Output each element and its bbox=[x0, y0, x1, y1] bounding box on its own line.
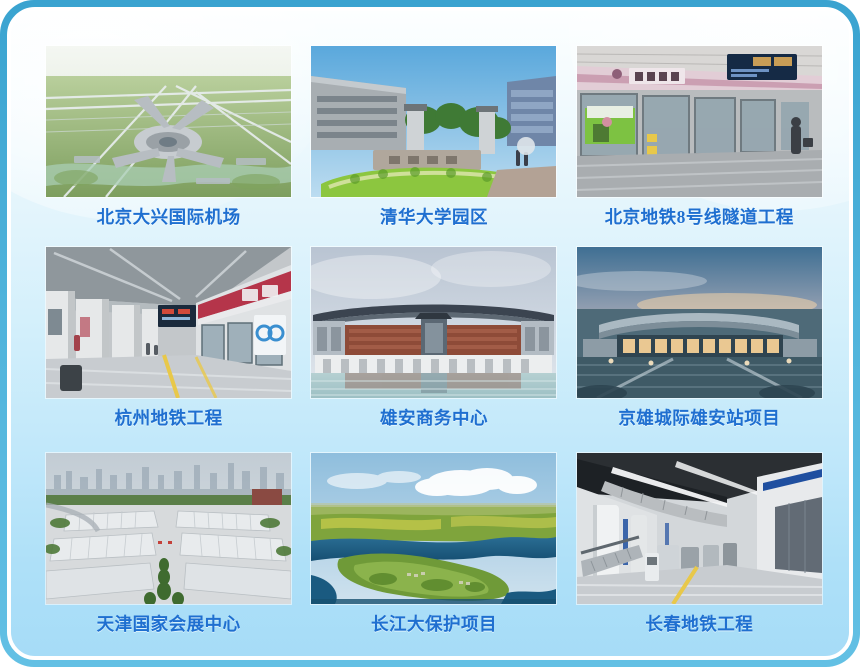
thumbnail-hangzhou-metro[interactable] bbox=[46, 247, 291, 398]
gallery-item-caption: 北京地铁8号线隧道工程 bbox=[605, 208, 794, 227]
gallery-item-tsinghua-campus[interactable]: 清华大学园区 bbox=[308, 32, 559, 238]
thumbnail-yangtze-protection[interactable] bbox=[311, 453, 556, 604]
gallery-item-daxing-airport[interactable]: 北京大兴国际机场 bbox=[43, 32, 294, 238]
gallery-item-changchun-metro[interactable]: 长春地铁工程 bbox=[574, 444, 825, 650]
gallery-item-caption: 北京大兴国际机场 bbox=[97, 208, 241, 227]
slide-frame: 北京大兴国际机场 bbox=[7, 7, 853, 660]
gallery-item-caption: 长江大保护项目 bbox=[371, 615, 497, 634]
gallery-item-caption: 长春地铁工程 bbox=[645, 615, 753, 634]
gallery-item-caption: 京雄城际雄安站项目 bbox=[618, 409, 780, 428]
thumbnail-tsinghua-campus[interactable] bbox=[311, 46, 556, 197]
gallery-item-hangzhou-metro[interactable]: 杭州地铁工程 bbox=[43, 238, 294, 444]
gallery-item-caption: 天津国家会展中心 bbox=[97, 615, 241, 634]
thumbnail-xiongan-business-center[interactable] bbox=[311, 247, 556, 398]
thumbnail-changchun-metro[interactable] bbox=[577, 453, 822, 604]
gallery-item-caption: 清华大学园区 bbox=[380, 208, 488, 227]
gallery-item-yangtze-protection[interactable]: 长江大保护项目 bbox=[308, 444, 559, 650]
gallery-item-tianjin-expo-center[interactable]: 天津国家会展中心 bbox=[43, 444, 294, 650]
slide-root: 北京大兴国际机场 bbox=[0, 0, 860, 667]
gallery-item-beijing-metro-line8-tunnel[interactable]: 北京地铁8号线隧道工程 bbox=[574, 32, 825, 238]
thumbnail-tianjin-expo-center[interactable] bbox=[46, 453, 291, 604]
gallery-item-xiongan-business-center[interactable]: 雄安商务中心 bbox=[308, 238, 559, 444]
gallery-item-caption: 雄安商务中心 bbox=[380, 409, 488, 428]
project-gallery-grid: 北京大兴国际机场 bbox=[11, 11, 853, 660]
thumbnail-daxing-airport[interactable] bbox=[46, 46, 291, 197]
gallery-item-caption: 杭州地铁工程 bbox=[115, 409, 223, 428]
gallery-item-jingxiong-xiongan-station[interactable]: 京雄城际雄安站项目 bbox=[574, 238, 825, 444]
thumbnail-jingxiong-xiongan-station[interactable] bbox=[577, 247, 822, 398]
thumbnail-beijing-metro-line8-tunnel[interactable] bbox=[577, 46, 822, 197]
